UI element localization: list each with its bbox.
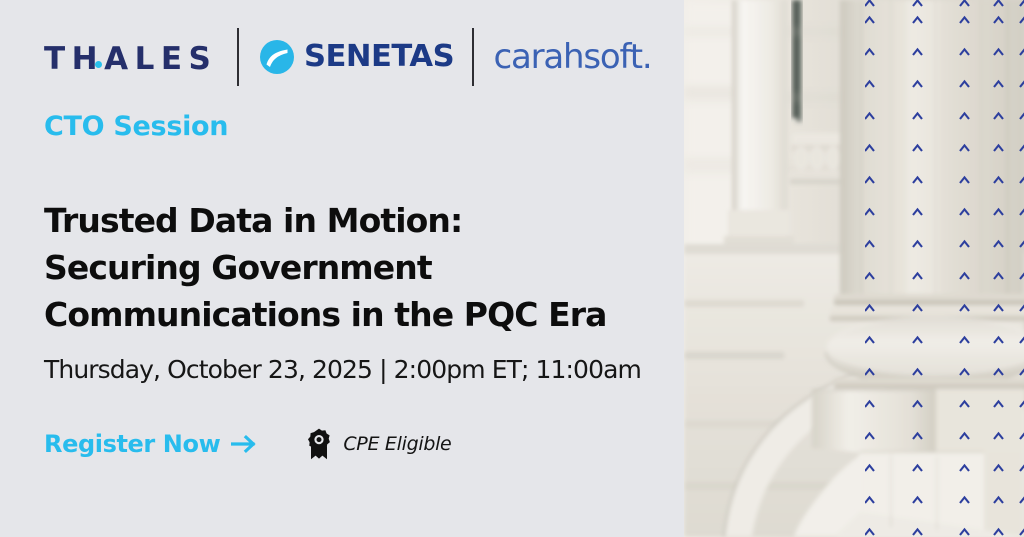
headline-line-3: Communications in the PQC Era	[44, 292, 664, 339]
senetas-wordmark: SENETAS	[304, 42, 454, 72]
logo-divider-2	[472, 28, 474, 86]
senetas-circle-mark-icon	[259, 39, 295, 75]
thales-accent-dot-icon	[95, 61, 102, 68]
event-datetime: Thursday, October 23, 2025 | 2:00pm ET; …	[44, 355, 641, 384]
carahsoft-wordmark: carahsoft	[494, 37, 642, 77]
cpe-eligible-group: CPE Eligible	[304, 428, 451, 460]
cpe-eligible-label: CPE Eligible	[343, 435, 451, 454]
marble-columns-photo	[684, 0, 1024, 537]
content-pane: THALES SENETAS carahsoft. CTO Session T	[0, 0, 684, 537]
carahsoft-period: .	[642, 37, 652, 77]
hero-photo-pane	[684, 0, 1024, 537]
register-now-label: Register Now	[44, 432, 220, 456]
arrow-right-icon	[231, 434, 257, 454]
register-now-link[interactable]: Register Now	[44, 432, 257, 456]
award-rosette-icon	[304, 428, 334, 460]
headline-line-1: Trusted Data in Motion:	[44, 198, 664, 245]
thales-logo: THALES	[44, 40, 217, 75]
cta-row: Register Now	[44, 428, 451, 460]
headline-line-2: Securing Government	[44, 245, 664, 292]
thales-wordmark: THALES	[44, 44, 217, 75]
session-eyebrow: CTO Session	[44, 112, 228, 142]
logo-divider-1	[237, 28, 239, 86]
senetas-logo: SENETAS	[259, 39, 451, 75]
partner-logo-bar: THALES SENETAS carahsoft.	[44, 28, 651, 86]
page-title: Trusted Data in Motion: Securing Governm…	[44, 198, 664, 339]
carahsoft-logo: carahsoft.	[494, 40, 652, 74]
webinar-promo-banner: THALES SENETAS carahsoft. CTO Session T	[0, 0, 1024, 537]
